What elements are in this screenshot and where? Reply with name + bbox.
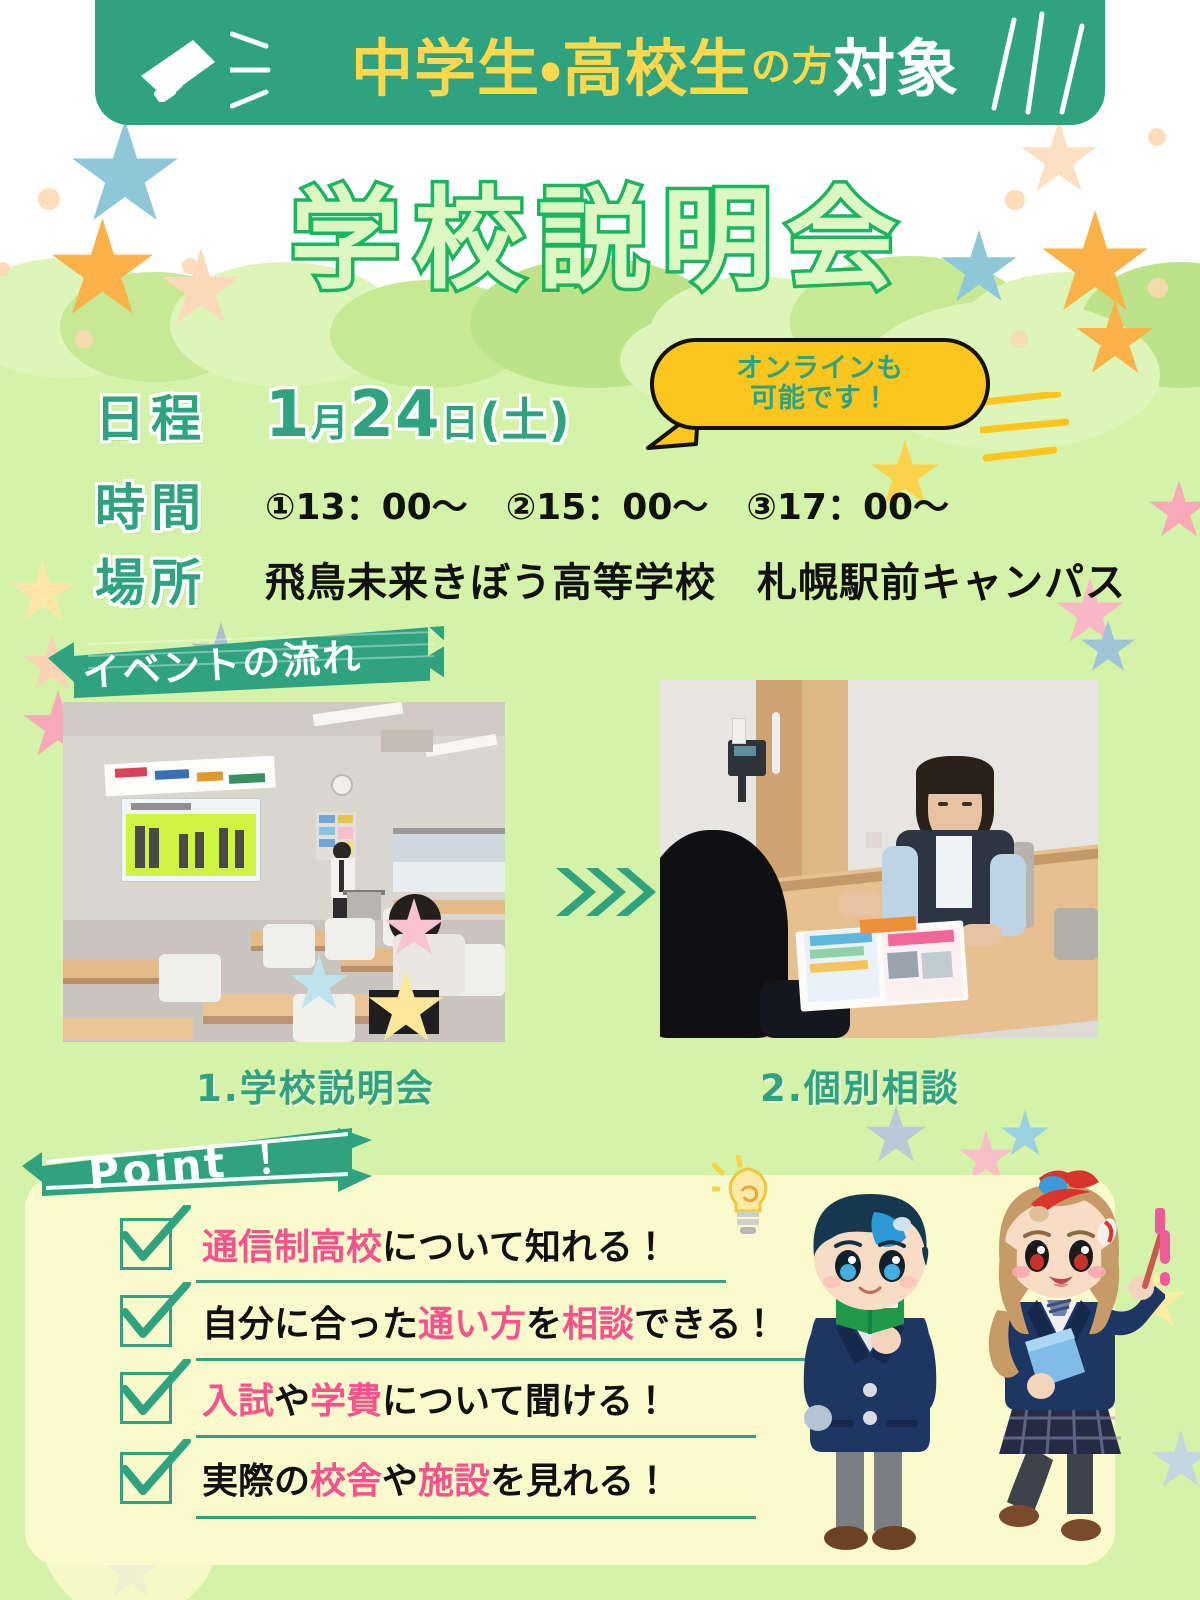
- time-slot-2: ②15：00〜: [506, 487, 709, 528]
- point-4-hl1: 校舎: [310, 1461, 382, 1502]
- header-taisho: 対象: [833, 18, 959, 108]
- point-3-hl2: 学費: [310, 1381, 382, 1422]
- chevron-right-triple-icon: [552, 862, 662, 924]
- point-item-1: 通信制高校について知れる！: [120, 1218, 669, 1270]
- time-slot-3: ③17：00〜: [746, 487, 949, 528]
- point-rule-2: [196, 1358, 812, 1361]
- page-title: 学校説明会: [0, 150, 1200, 310]
- date-day-of-week: (土): [480, 393, 571, 447]
- date-day-number: 24: [350, 378, 441, 452]
- point-item-3-text: 入試や学費について聞ける！: [202, 1372, 669, 1424]
- poster-root: 中学生・高校生の方対象 学校説明会 日程 1月24日(土) 時間 ①13：00〜…: [0, 0, 1200, 1600]
- point-rule-1: [196, 1280, 726, 1283]
- point-2-hl2: 相談: [562, 1304, 634, 1345]
- value-date: 1月24日(土): [265, 378, 571, 452]
- point-item-4: 実際の校舎や施設を見れる！: [120, 1452, 670, 1504]
- point-4-pre: 実際の: [202, 1461, 310, 1502]
- label-time: 時間: [95, 468, 265, 540]
- info-row-time: 時間 ①13：00〜②15：00〜③17：00〜: [95, 468, 987, 540]
- date-day-unit: 日: [441, 401, 480, 445]
- info-row-date: 日程 1月24日(土): [95, 378, 571, 452]
- point-2-hl1: 通い方: [418, 1304, 526, 1345]
- excitement-lines-icon: [1144, 1228, 1188, 1308]
- online-available-badge: オンラインも 可能です！: [650, 338, 990, 430]
- photo-individual-consultation: [660, 680, 1098, 1038]
- point-item-4-text: 実際の校舎や施設を見れる！: [202, 1452, 670, 1504]
- bubble-rays-icon: [980, 392, 1090, 472]
- caption-photo-2: 2.個別相談: [760, 1058, 960, 1112]
- value-time: ①13：00〜②15：00〜③17：00〜: [265, 478, 987, 530]
- label-place: 場所: [95, 543, 265, 615]
- time-slot-1: ①13：00〜: [265, 487, 468, 528]
- bubble-line-2: 可能です！: [750, 384, 890, 414]
- point-item-2: 自分に合った通い方を相談できる！: [120, 1295, 777, 1347]
- point-rule-4: [196, 1516, 756, 1519]
- checkbox-icon-3: [120, 1372, 172, 1424]
- point-1-mid: について知れる！: [382, 1227, 669, 1268]
- point-2-pre: 自分に合った: [202, 1304, 418, 1345]
- boy-student-character: [770, 1168, 970, 1558]
- header-target-audience: 中学生・高校生: [351, 18, 751, 108]
- point-rule-3: [196, 1435, 756, 1438]
- point-2-mid: を: [526, 1304, 562, 1345]
- date-month-number: 1: [265, 378, 311, 452]
- point-2-post: できる！: [634, 1304, 777, 1345]
- point-item-1-text: 通信制高校について知れる！: [202, 1218, 669, 1270]
- point-3-hl1: 入試: [202, 1381, 274, 1422]
- girl-student-character: [955, 1160, 1165, 1560]
- point-1-hl1: 通信制高校: [202, 1227, 382, 1268]
- point-3-mid: や: [274, 1381, 310, 1422]
- point-3-post: について聞ける！: [382, 1381, 669, 1422]
- date-month-unit: 月: [311, 401, 350, 445]
- checkbox-icon-4: [120, 1452, 172, 1504]
- checkbox-icon-2: [120, 1295, 172, 1347]
- point-item-2-text: 自分に合った通い方を相談できる！: [202, 1295, 777, 1347]
- point-4-hl2: 施設: [418, 1461, 490, 1502]
- sparkle-lines-icon: [980, 8, 1100, 118]
- point-4-post: を見れる！: [490, 1461, 670, 1502]
- value-place: 飛鳥未来きぼう高等学校 札幌駅前キャンパス: [265, 550, 1126, 608]
- bubble-line-1: オンラインも: [736, 354, 904, 384]
- megaphone-lines-icon: [230, 28, 300, 118]
- header-no-kata: の方: [751, 34, 833, 92]
- photo-school-briefing: [63, 702, 505, 1042]
- checkbox-icon-1: [120, 1218, 172, 1270]
- info-row-place: 場所 飛鳥未来きぼう高等学校 札幌駅前キャンパス: [95, 543, 1126, 615]
- caption-photo-1: 1.学校説明会: [196, 1058, 435, 1112]
- point-item-3: 入試や学費について聞ける！: [120, 1372, 669, 1424]
- point-4-mid: や: [382, 1461, 418, 1502]
- label-date: 日程: [95, 379, 265, 451]
